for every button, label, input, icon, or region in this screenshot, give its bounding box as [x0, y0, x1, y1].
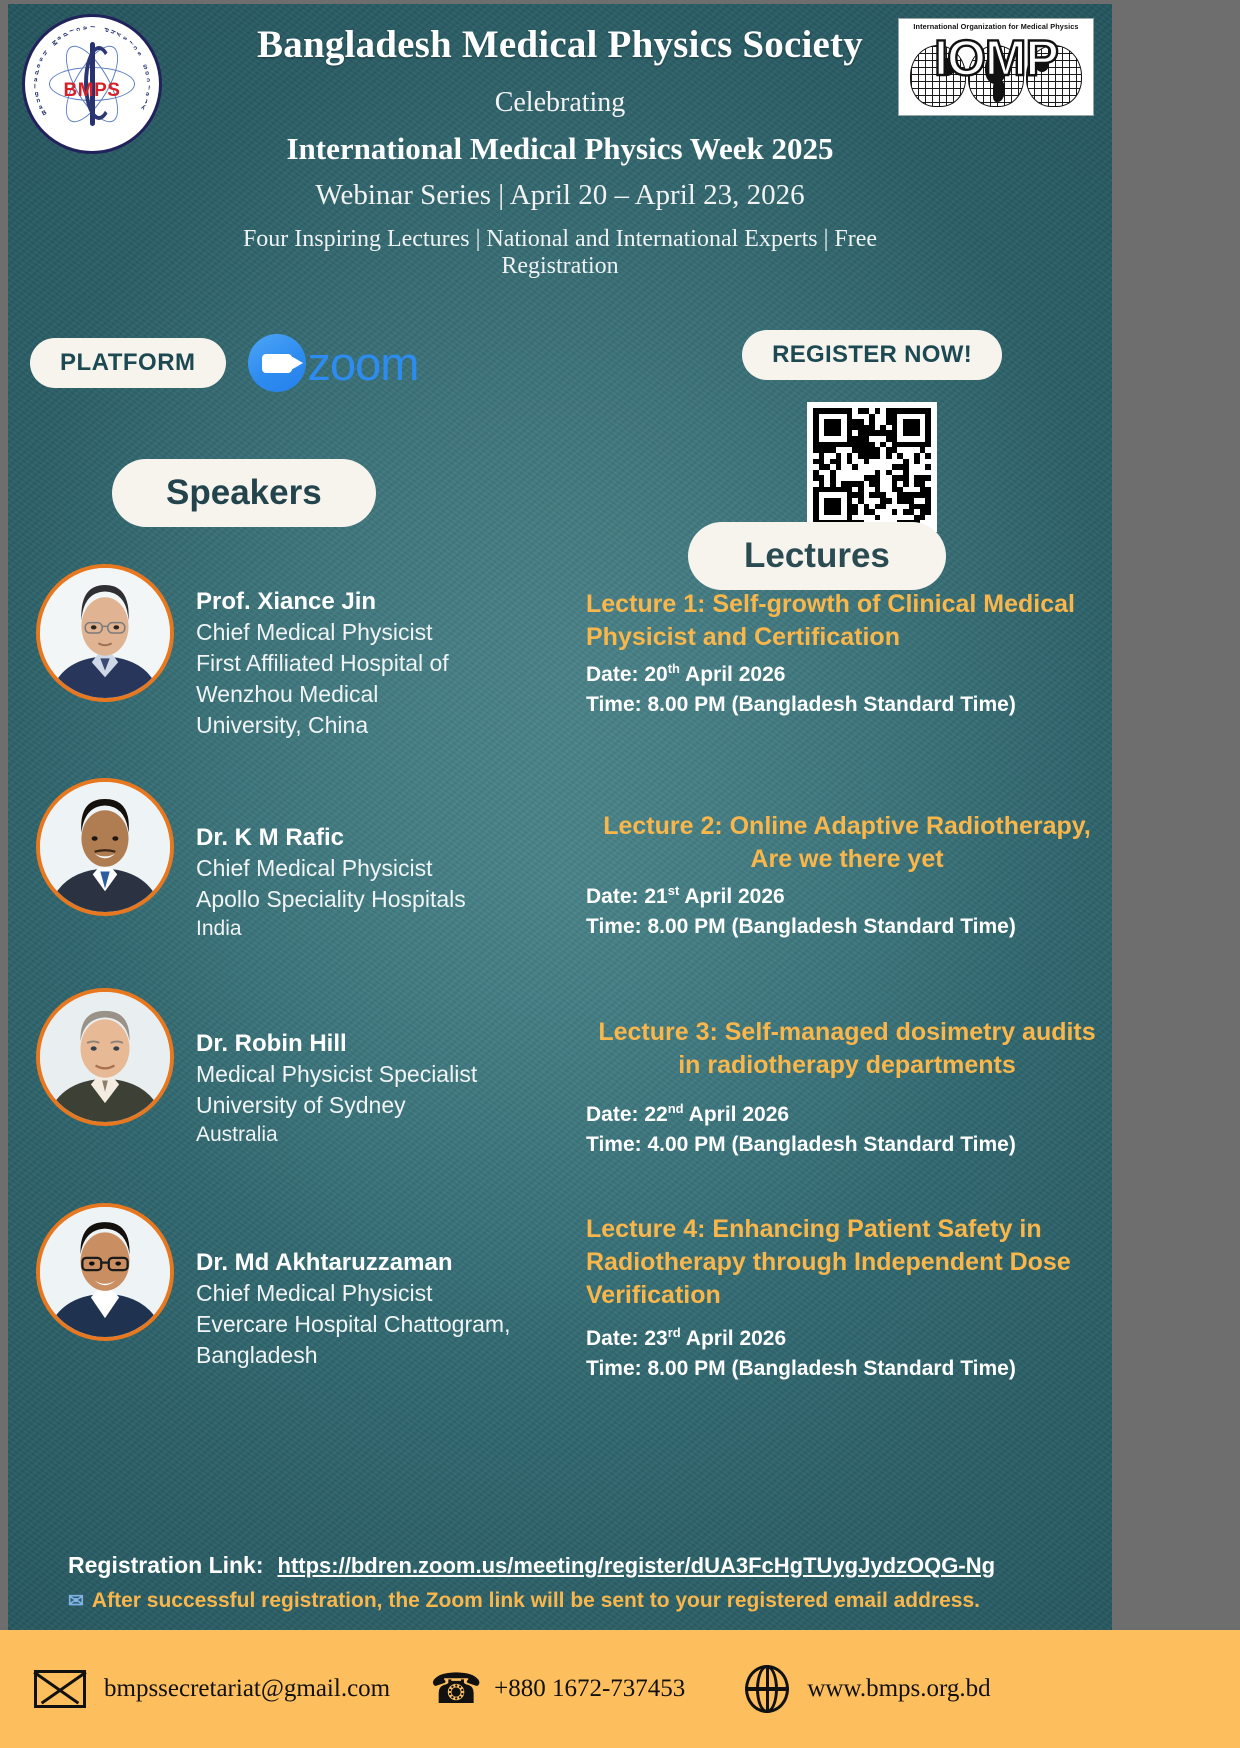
speaker-name: Dr. Md Akhtaruzzaman	[196, 1247, 510, 1278]
registration-block: Registration Link: https://bdren.zoom.us…	[8, 1552, 1112, 1613]
speaker-lecture-row: Dr. K M Rafic Chief Medical Physicist Ap…	[8, 778, 1112, 988]
iomp-logo-letters: IOMP	[899, 29, 1093, 87]
mail-icon	[34, 1670, 86, 1708]
footer-website-text: www.bmps.org.bd	[807, 1675, 990, 1703]
register-section: REGISTER NOW!	[742, 330, 1002, 532]
lecture-time: Time: 8.00 PM (Bangladesh Standard Time)	[586, 1354, 1108, 1384]
speaker-lecture-row: Dr. Md Akhtaruzzaman Chief Medical Physi…	[8, 1195, 1112, 1395]
lecture-time: Time: 8.00 PM (Bangladesh Standard Time)	[586, 912, 1108, 942]
envelope-icon: ✉	[68, 1590, 84, 1613]
speaker-country: India	[196, 915, 466, 943]
speakers-lectures-grid: Prof. Xiance Jin Chief Medical Physicist…	[8, 564, 1112, 1395]
poster-header: Bangladesh Medical Physics Society BMPS …	[8, 4, 1112, 284]
speaker-name: Prof. Xiance Jin	[196, 586, 449, 617]
speakers-heading: Speakers	[112, 459, 376, 527]
event-title: International Medical Physics Week 2025	[208, 131, 912, 167]
qr-code-icon[interactable]	[807, 402, 937, 532]
speaker-affiliation-line: Chief Medical Physicist	[196, 1278, 510, 1309]
speaker-affiliation-line: Wenzhou Medical	[196, 679, 449, 710]
bmps-logo: Bangladesh Medical Physics Society BMPS	[22, 14, 162, 154]
lecture-title: Lecture 1: Self-growth of Clinical Medic…	[586, 588, 1108, 654]
avatar	[36, 988, 174, 1126]
avatar	[36, 1203, 174, 1341]
speaker-affiliation-line: First Affiliated Hospital of	[196, 648, 449, 679]
footer-email[interactable]: bmpssecretariat@gmail.com	[34, 1670, 390, 1708]
globe-icon	[745, 1665, 789, 1713]
video-camera-icon	[248, 334, 306, 392]
zoom-logo: zoom	[248, 334, 419, 392]
speaker-affiliation-line: Bangladesh	[196, 1340, 510, 1371]
speaker-photo-3	[40, 992, 170, 1122]
speaker-affiliation-line: Apollo Speciality Hospitals	[196, 884, 466, 915]
speaker-country: Australia	[196, 1121, 477, 1149]
speaker-affiliation-line: Evercare Hospital Chattogram,	[196, 1309, 510, 1340]
page-title: Bangladesh Medical Physics Society	[208, 24, 912, 67]
speaker-affiliation-line: Chief Medical Physicist	[196, 853, 466, 884]
speaker-photo-4	[40, 1207, 170, 1337]
phone-icon: ☎	[436, 1665, 476, 1713]
lecture-date: Date: 23rd April 2026	[586, 1324, 1108, 1354]
lecture-date: Date: 21st April 2026	[586, 882, 1108, 912]
lecture-time: Time: 4.00 PM (Bangladesh Standard Time)	[586, 1130, 1108, 1160]
lecture-date: Date: 20th April 2026	[586, 660, 1108, 690]
lecture-time: Time: 8.00 PM (Bangladesh Standard Time)	[586, 690, 1108, 720]
lecture-date: Date: 22nd April 2026	[586, 1100, 1108, 1130]
celebrating-label: Celebrating	[208, 87, 912, 119]
avatar	[36, 564, 174, 702]
speaker-affiliation-line: University, China	[196, 710, 449, 741]
footer-phone-text: +880 1672-737453	[494, 1675, 685, 1703]
lecture-title: Lecture 3: Self-managed dosimetry audits…	[586, 1016, 1108, 1082]
register-now-button[interactable]: REGISTER NOW!	[742, 330, 1002, 380]
bmps-logo-label: BMPS	[64, 80, 121, 102]
speaker-lecture-row: Dr. Robin Hill Medical Physicist Special…	[8, 988, 1112, 1195]
footer-website[interactable]: www.bmps.org.bd	[745, 1665, 990, 1713]
speaker-name: Dr. K M Rafic	[196, 822, 466, 853]
speaker-lecture-row: Prof. Xiance Jin Chief Medical Physicist…	[8, 564, 1112, 778]
avatar	[36, 778, 174, 916]
footer-phone[interactable]: ☎ +880 1672-737453	[436, 1665, 685, 1713]
registration-url[interactable]: https://bdren.zoom.us/meeting/register/d…	[278, 1553, 996, 1579]
speaker-name: Dr. Robin Hill	[196, 1028, 477, 1059]
speaker-affiliation-line: University of Sydney	[196, 1090, 477, 1121]
speaker-affiliation-line: Chief Medical Physicist	[196, 617, 449, 648]
webinar-series-dates: Webinar Series | April 20 – April 23, 20…	[208, 179, 912, 212]
registration-link-label: Registration Link:	[68, 1552, 264, 1579]
footer-email-text: bmpssecretariat@gmail.com	[104, 1675, 390, 1703]
event-tagline: Four Inspiring Lectures | National and I…	[208, 226, 912, 280]
contact-footer: bmpssecretariat@gmail.com ☎ +880 1672-73…	[0, 1630, 1240, 1748]
lecture-title: Lecture 2: Online Adaptive Radiotherapy,…	[586, 810, 1108, 876]
poster-canvas: Bangladesh Medical Physics Society BMPS …	[0, 0, 1112, 1748]
lecture-title: Lecture 4: Enhancing Patient Safety in R…	[586, 1213, 1108, 1312]
speaker-photo-2	[40, 782, 170, 912]
registration-note: After successful registration, the Zoom …	[92, 1589, 980, 1613]
zoom-wordmark: zoom	[308, 340, 419, 387]
platform-row: PLATFORM zoom	[30, 334, 418, 392]
platform-label: PLATFORM	[30, 338, 226, 388]
speaker-photo-1	[40, 568, 170, 698]
iomp-logo: International Organization for Medical P…	[898, 18, 1094, 116]
speaker-affiliation-line: Medical Physicist Specialist	[196, 1059, 477, 1090]
